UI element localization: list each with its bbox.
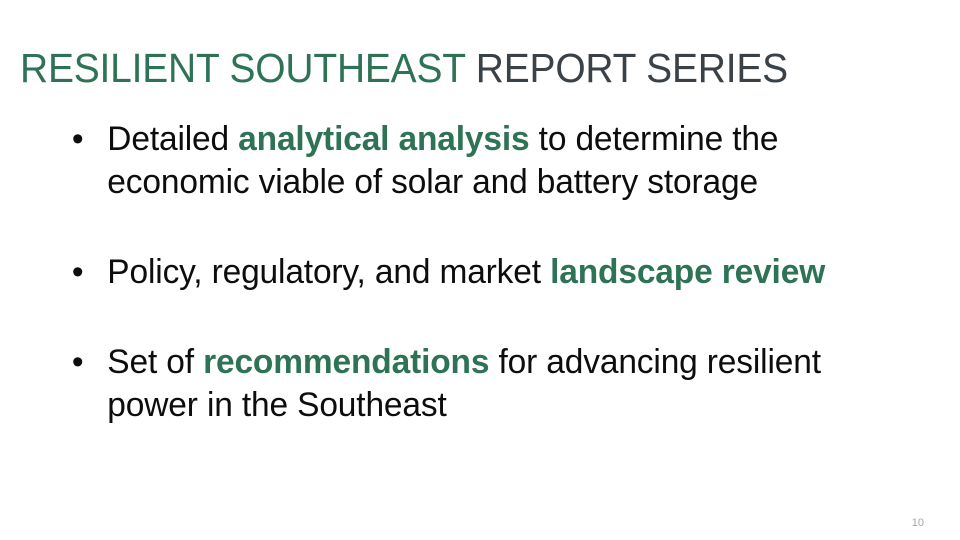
list-item: • Policy, regulatory, and market landsca… (62, 251, 880, 294)
bullet-list: • Detailed analytical analysis to determ… (62, 118, 892, 427)
list-item: • Detailed analytical analysis to determ… (62, 118, 880, 204)
list-item-text: Detailed analytical analysis to determin… (107, 118, 879, 204)
presentation-slide: RESILIENT SOUTHEAST REPORT SERIES • Deta… (0, 0, 960, 540)
bullet-dot-icon: • (72, 251, 92, 294)
slide-page-number: 10 (912, 516, 924, 530)
text-segment: Detailed (107, 120, 238, 158)
text-segment: Set of (107, 343, 203, 381)
title-gray-segment: REPORT SERIES (465, 45, 788, 91)
list-item-text: Set of recommendations for advancing res… (107, 341, 879, 427)
list-item: • Set of recommendations for advancing r… (62, 341, 880, 427)
bullet-dot-icon: • (72, 118, 92, 161)
emphasis-segment: landscape review (550, 253, 825, 291)
emphasis-segment: recommendations (203, 343, 489, 381)
bullet-dot-icon: • (72, 341, 92, 384)
emphasis-segment: analytical analysis (238, 120, 529, 158)
title-green-segment: RESILIENT SOUTHEAST (20, 45, 465, 91)
list-item-text: Policy, regulatory, and market landscape… (107, 251, 879, 294)
text-segment: Policy, regulatory, and market (107, 253, 550, 291)
page-title: RESILIENT SOUTHEAST REPORT SERIES (20, 44, 894, 92)
